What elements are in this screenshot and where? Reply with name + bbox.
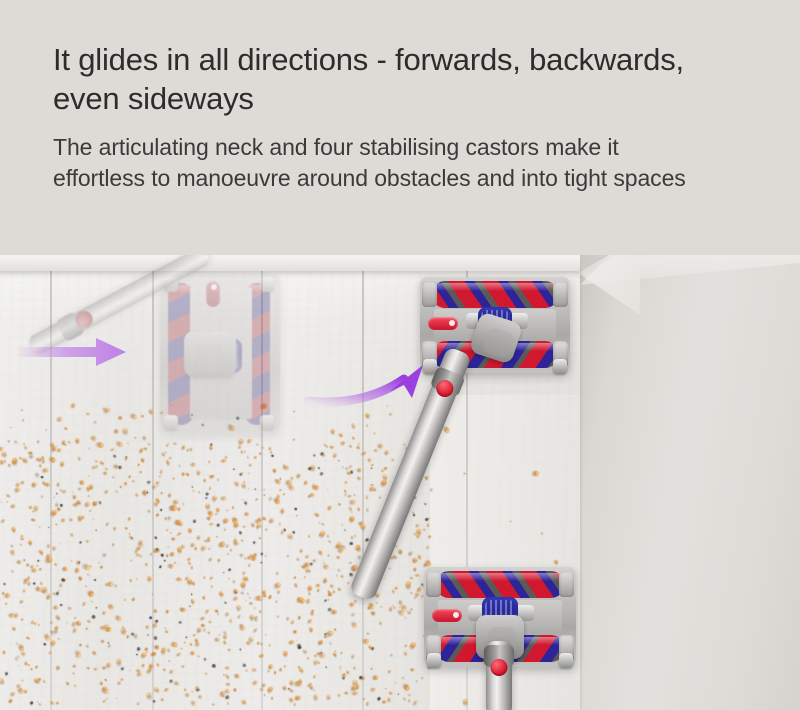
- castor: [559, 653, 573, 668]
- brush-bar-top: [432, 281, 558, 308]
- castor: [553, 359, 567, 374]
- brush-bar-top: [436, 571, 564, 598]
- product-feature-panel: It glides in all directions - forwards, …: [0, 0, 800, 710]
- brush-end-cap: [426, 571, 441, 597]
- page-title: It glides in all directions - forwards, …: [53, 40, 693, 118]
- copy-block: It glides in all directions - forwards, …: [0, 0, 800, 193]
- wall-right: [578, 255, 800, 710]
- brush-gloss: [436, 573, 564, 581]
- page-subtitle: The articulating neck and four stabilisi…: [53, 132, 693, 193]
- castor: [427, 653, 441, 668]
- head-red-tab: [428, 317, 458, 330]
- head-red-tab: [432, 609, 462, 622]
- ghost-red-tab: [206, 281, 220, 307]
- brush-end-cap: [422, 281, 437, 307]
- brush-gloss: [432, 283, 558, 291]
- ghost-yoke: [184, 331, 236, 377]
- ghost-castor: [260, 277, 274, 292]
- brush-end-cap: [559, 571, 574, 597]
- vacuum-head-ghost: [160, 273, 280, 433]
- wand-red-button: [491, 659, 508, 676]
- ghost-castor: [164, 415, 178, 430]
- ghost-castor: [260, 415, 274, 430]
- vacuum-wand-bottom: [486, 641, 512, 710]
- brush-end-cap: [553, 281, 568, 307]
- product-photo: [0, 255, 800, 710]
